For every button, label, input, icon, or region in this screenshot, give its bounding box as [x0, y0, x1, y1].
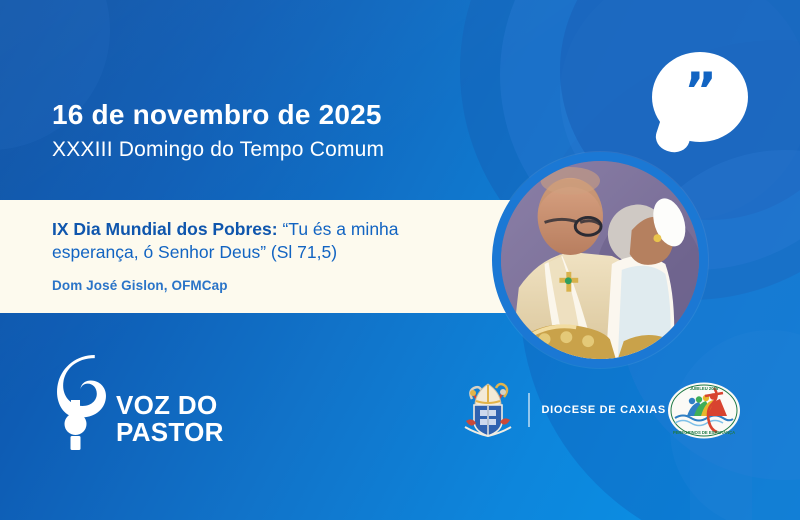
- jubilee-logo: JUBILEU 2025 PEREGRINOS DE ESPERANÇA: [667, 382, 741, 439]
- bishop-photo-illustration: [501, 161, 699, 359]
- quote-bubble-icon: ”: [652, 52, 748, 142]
- jubilee-top-text: JUBILEU 2025: [690, 386, 719, 391]
- diocese-coat-of-arms-icon: [458, 381, 518, 439]
- logo-line-1: VOZ DO: [116, 392, 224, 419]
- header-block: 16 de novembro de 2025 XXXIII Domingo do…: [52, 100, 384, 162]
- bishop-photo-frame: [492, 152, 708, 368]
- logo-line-2: PASTOR: [116, 419, 224, 446]
- bishop-photo: [501, 161, 699, 359]
- voz-do-pastor-banner: 16 de novembro de 2025 XXXIII Domingo do…: [0, 0, 800, 520]
- event-date: 16 de novembro de 2025: [52, 100, 384, 131]
- voz-do-pastor-logo: VOZ DO PASTOR: [52, 352, 224, 452]
- title-banner: IX Dia Mundial dos Pobres: “Tu és a minh…: [0, 200, 520, 313]
- banner-author: Dom José Gislon, OFMCap: [52, 278, 520, 293]
- banner-title-bold: IX Dia Mundial dos Pobres:: [52, 219, 278, 239]
- crosier-icon: [52, 352, 110, 452]
- lockup-divider: [528, 393, 530, 427]
- quote-mark-glyph: ”: [652, 52, 748, 142]
- liturgical-sunday: XXXIII Domingo do Tempo Comum: [52, 138, 384, 162]
- voz-do-pastor-wordmark: VOZ DO PASTOR: [116, 392, 224, 446]
- jubilee-2025-pilgrims-of-hope-icon: JUBILEU 2025 PEREGRINOS DE ESPERANÇA: [667, 382, 741, 439]
- jubilee-bottom-text: PEREGRINOS DE ESPERANÇA: [673, 430, 735, 435]
- banner-title: IX Dia Mundial dos Pobres: “Tu és a minh…: [52, 218, 472, 265]
